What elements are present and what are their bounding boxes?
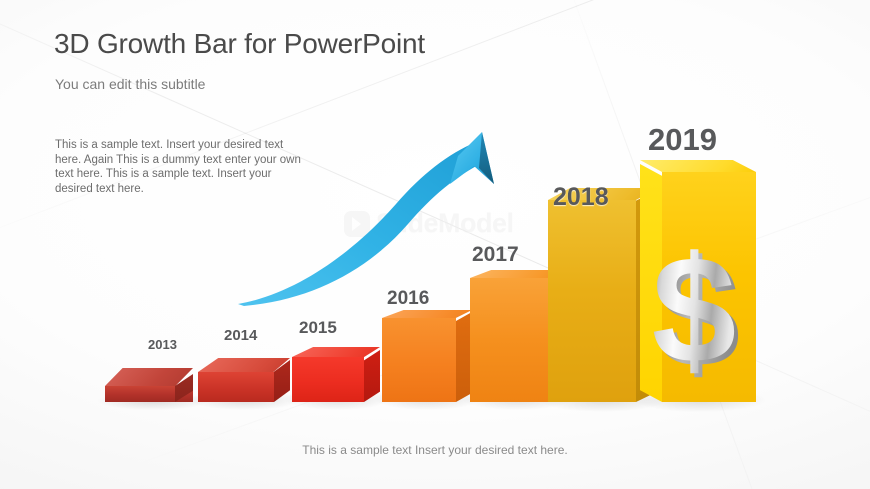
dollar-sign-icon: $ $ xyxy=(636,238,772,390)
bar-label-2015: 2015 xyxy=(299,318,337,338)
bar-label-2018: 2018 xyxy=(553,183,609,212)
slide-canvas: 3D Growth Bar for PowerPoint You can edi… xyxy=(0,0,870,489)
bar-2016[interactable] xyxy=(382,310,472,402)
bar-top-face xyxy=(640,160,756,172)
bar-side-face xyxy=(364,350,380,402)
slide-caption: This is a sample text Insert your desire… xyxy=(0,443,870,457)
growth-arrow-icon xyxy=(236,128,516,308)
bar-label-2013: 2013 xyxy=(148,337,177,352)
bar-label-2019: 2019 xyxy=(648,122,717,158)
svg-text:$: $ xyxy=(652,238,737,390)
bar-2014[interactable] xyxy=(198,358,290,402)
bar-2013[interactable] xyxy=(105,368,193,402)
bar-top-face xyxy=(292,347,380,357)
bar-top-face xyxy=(382,310,472,318)
bar-front-face xyxy=(292,357,364,402)
bar-label-2014: 2014 xyxy=(224,327,257,344)
bar-front-face xyxy=(548,200,636,402)
bar-front-face xyxy=(382,318,456,402)
bar-top-face xyxy=(198,358,290,372)
growth-bar-chart: 2013 2014 2015 2016 2017 xyxy=(0,0,870,489)
bar-2015[interactable] xyxy=(292,348,380,402)
bar-front-face xyxy=(198,372,274,402)
